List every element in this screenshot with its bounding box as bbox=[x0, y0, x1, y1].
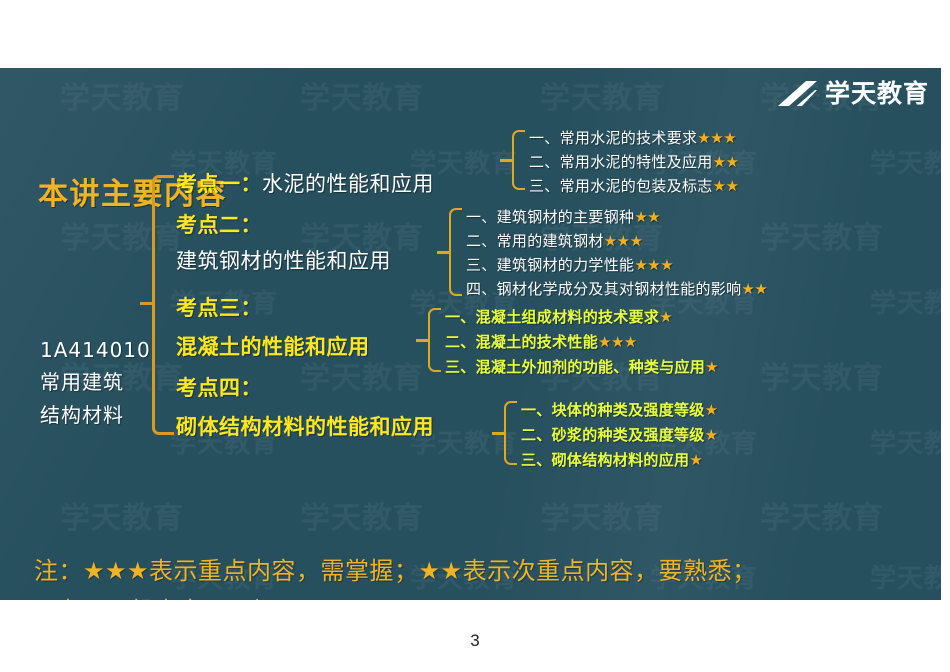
topic-3-item-2: 二、混凝土的技术性能★★★ bbox=[445, 331, 637, 352]
footer-note: 注：★★★表示重点内容，需掌握；★★表示次重点内容，要熟悉； ★表示一般内容，了… bbox=[34, 551, 914, 600]
topic-3-item-2-stars: ★★★ bbox=[598, 333, 637, 351]
topic-1-item-3: 三、常用水泥的包装及标志★★ bbox=[529, 175, 739, 196]
topic-1-item-1-text: 常用水泥的技术要求 bbox=[560, 129, 698, 147]
topic-3-body: 混凝土的性能和应用 bbox=[176, 331, 370, 361]
watermark-text: 学天教育 bbox=[540, 73, 664, 117]
road-arrow-icon bbox=[776, 80, 818, 107]
watermark-text: 学天教育 bbox=[870, 143, 941, 180]
topic-1-item-1: 一、常用水泥的技术要求★★★ bbox=[529, 127, 736, 148]
topic-2-bracket-stub bbox=[437, 251, 451, 254]
root-line2: 常用建筑 bbox=[40, 366, 160, 398]
main-bracket bbox=[152, 175, 174, 435]
topic-2-item-4-stars: ★★ bbox=[741, 280, 767, 298]
logo-text: 学天教育 bbox=[825, 81, 929, 106]
topic-2-item-2-num: 二、 bbox=[466, 232, 497, 250]
root-topic-label: 1A414010 常用建筑 结构材料 bbox=[40, 334, 160, 431]
topic-3-item-3-num: 三、 bbox=[445, 358, 476, 376]
topic-2-item-3-stars: ★★★ bbox=[634, 256, 673, 274]
topic-4-bracket-stub bbox=[492, 432, 506, 435]
topic-1-item-3-stars: ★★ bbox=[713, 177, 739, 195]
topic-2-head: 考点二： bbox=[176, 209, 262, 239]
watermark-text: 学天教育 bbox=[760, 493, 884, 537]
topic-3-item-1-text: 混凝土组成材料的技术要求 bbox=[476, 308, 660, 326]
topic-2-item-3-num: 三、 bbox=[466, 256, 497, 274]
topic-1-body: 水泥的性能和应用 bbox=[262, 172, 434, 196]
topic-3-item-3: 三、混凝土外加剂的功能、种类与应用★ bbox=[445, 356, 718, 377]
topic-3-item-2-text: 混凝土的技术性能 bbox=[476, 333, 598, 351]
topic-4-item-3-text: 砌体结构材料的应用 bbox=[552, 451, 690, 469]
topic-4-item-2: 二、砂浆的种类及强度等级★ bbox=[521, 424, 718, 445]
topic-3-item-1-stars: ★ bbox=[659, 308, 672, 326]
topic-4-item-2-stars: ★ bbox=[705, 426, 718, 444]
topic-3-item-2-num: 二、 bbox=[445, 333, 476, 351]
topic-2-item-2-stars: ★★★ bbox=[604, 232, 643, 250]
topic-2-item-1: 一、建筑钢材的主要钢种★★ bbox=[466, 206, 660, 227]
topic-2-item-1-text: 建筑钢材的主要钢种 bbox=[497, 208, 635, 226]
topic-2-item-1-stars: ★★ bbox=[634, 208, 660, 226]
root-code: 1A414010 bbox=[40, 334, 160, 366]
topic-4-item-1-text: 块体的种类及强度等级 bbox=[552, 401, 705, 419]
watermark-text: 学天教育 bbox=[540, 493, 664, 537]
topic-2-item-2: 二、常用的建筑钢材★★★ bbox=[466, 230, 643, 251]
topic-3-item-1-num: 一、 bbox=[445, 308, 476, 326]
topic-3-item-3-stars: ★ bbox=[705, 358, 718, 376]
topic-1-item-3-num: 三、 bbox=[529, 177, 560, 195]
topic-4-item-1: 一、块体的种类及强度等级★ bbox=[521, 399, 718, 420]
page-number: 3 bbox=[0, 631, 950, 651]
topic-1-item-1-num: 一、 bbox=[529, 129, 560, 147]
watermark-text: 学天教育 bbox=[300, 73, 424, 117]
topic-2-item-4-num: 四、 bbox=[466, 280, 497, 298]
footer-note-line2: ★表示一般内容，了解即可。 bbox=[34, 591, 914, 600]
watermark-text: 学天教育 bbox=[60, 493, 184, 537]
watermark-text: 学天教育 bbox=[870, 283, 941, 320]
topic-4-body: 砌体结构材料的性能和应用 bbox=[176, 411, 434, 441]
topic-2-item-1-num: 一、 bbox=[466, 208, 497, 226]
brand-logo: 学天教育 bbox=[776, 80, 929, 107]
watermark-text: 学天教育 bbox=[300, 493, 424, 537]
slide-content-panel: 学天教育学天教育学天教育学天教育学天教育学天教育学天教育学天教育学天教育学天教育… bbox=[0, 68, 941, 600]
topic-2-item-2-text: 常用的建筑钢材 bbox=[497, 232, 604, 250]
topic-3-head: 考点三： bbox=[176, 292, 262, 322]
topic-3-bracket-stub bbox=[416, 339, 430, 342]
topic-4-item-3-num: 三、 bbox=[521, 451, 552, 469]
watermark-text: 学天教育 bbox=[60, 73, 184, 117]
topic-1-bracket-stub bbox=[500, 159, 514, 162]
topic-4-item-1-stars: ★ bbox=[705, 401, 718, 419]
topic-3-item-3-text: 混凝土外加剂的功能、种类与应用 bbox=[476, 358, 706, 376]
topic-4-item-1-num: 一、 bbox=[521, 401, 552, 419]
slide-canvas: 学天教育学天教育学天教育学天教育学天教育学天教育学天教育学天教育学天教育学天教育… bbox=[0, 0, 950, 672]
main-bracket-stub bbox=[140, 302, 154, 305]
topic-4-item-3: 三、砌体结构材料的应用★ bbox=[521, 449, 702, 470]
topic-1-head: 考点一： bbox=[176, 172, 262, 196]
topic-1-item-3-text: 常用水泥的包装及标志 bbox=[560, 177, 713, 195]
topic-2-item-4-text: 钢材化学成分及其对钢材性能的影响 bbox=[497, 280, 742, 298]
topic-1-heading: 考点一：水泥的性能和应用 bbox=[176, 168, 434, 198]
topic-3-item-1: 一、混凝土组成材料的技术要求★ bbox=[445, 306, 672, 327]
root-line3: 结构材料 bbox=[40, 399, 160, 431]
footer-note-line1: 注：★★★表示重点内容，需掌握；★★表示次重点内容，要熟悉； bbox=[34, 551, 914, 591]
topic-1-item-1-stars: ★★★ bbox=[697, 129, 736, 147]
topic-4-item-2-num: 二、 bbox=[521, 426, 552, 444]
topic-4-head: 考点四： bbox=[176, 372, 262, 402]
topic-2-item-3: 三、建筑钢材的力学性能★★★ bbox=[466, 254, 673, 275]
watermark-text: 学天教育 bbox=[760, 353, 884, 397]
topic-4-item-2-text: 砂浆的种类及强度等级 bbox=[552, 426, 705, 444]
topic-1-item-2-stars: ★★ bbox=[713, 153, 739, 171]
topic-2-item-3-text: 建筑钢材的力学性能 bbox=[497, 256, 635, 274]
topic-1-item-2: 二、常用水泥的特性及应用★★ bbox=[529, 151, 739, 172]
topic-2-item-4: 四、钢材化学成分及其对钢材性能的影响★★ bbox=[466, 278, 767, 299]
topic-4-item-3-stars: ★ bbox=[689, 451, 702, 469]
topic-2-body: 建筑钢材的性能和应用 bbox=[176, 245, 391, 275]
watermark-text: 学天教育 bbox=[760, 213, 884, 257]
topic-1-item-2-text: 常用水泥的特性及应用 bbox=[560, 153, 713, 171]
watermark-text: 学天教育 bbox=[870, 423, 941, 460]
topic-1-item-2-num: 二、 bbox=[529, 153, 560, 171]
